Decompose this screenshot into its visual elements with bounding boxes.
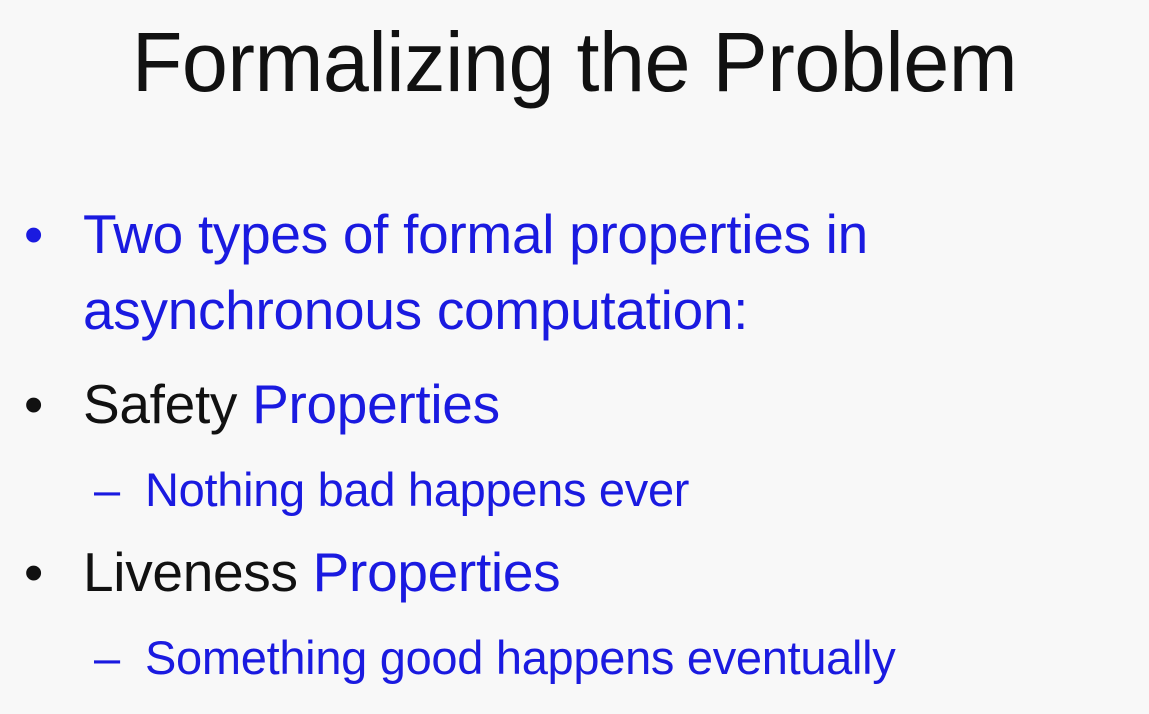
bullet-item-3: • Liveness Properties [0,534,1149,610]
bullet-dot-icon: • [24,366,64,442]
bullet-item-2-accent: Properties [252,373,500,435]
bullet-item-1-line-1: Two types of formal properties in [83,203,868,265]
bullet-item-2-label: Safety [83,373,237,435]
sub-bullet-item-2-1: – Nothing bad happens ever [0,454,1149,526]
bullet-item-3-label: Liveness [83,541,298,603]
bullet-dash-icon: – [94,454,140,526]
bullet-item-3-accent: Properties [313,541,561,603]
bullet-item-1: • Two types of formal properties in asyn… [0,196,1149,348]
bullet-item-2: • Safety Properties [0,366,1149,442]
sub-bullet-item-3-1: – Something good happens eventually [0,622,1149,694]
spacer [0,356,1149,366]
bullet-dash-icon: – [94,622,140,694]
sub-bullet-item-2-1-label: Nothing bad happens ever [145,463,689,516]
bullet-dot-icon: • [24,534,64,610]
slide-body: • Two types of formal properties in asyn… [0,196,1149,698]
presentation-slide: Formalizing the Problem • Two types of f… [0,0,1149,714]
sub-bullet-item-3-1-label: Something good happens eventually [145,631,896,684]
page-title: Formalizing the Problem [9,14,1141,110]
bullet-dot-icon: • [24,196,64,272]
bullet-item-1-line-2: asynchronous computation: [83,279,748,341]
